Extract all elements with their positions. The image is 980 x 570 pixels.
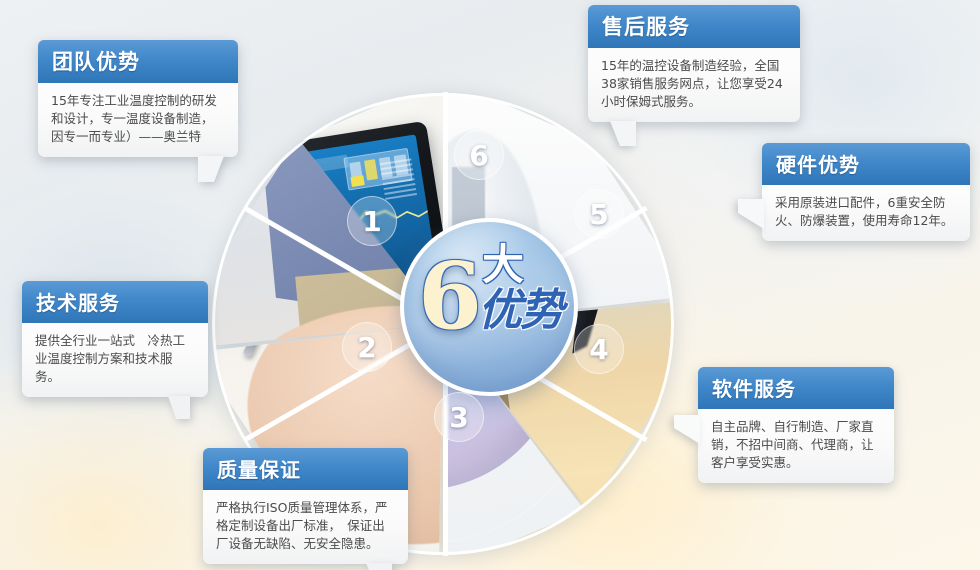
callout-tech-body: 提供全行业一站式 冷热工业温度控制方案和技术服务。	[22, 323, 208, 397]
callout-hardware-body: 采用原装进口配件，6重安全防火、防爆装置，使用寿命12年。	[762, 185, 970, 241]
callout-tail	[198, 156, 224, 182]
badge-2[interactable]: 2	[342, 322, 392, 372]
infographic-canvas: INTC 440.95	[0, 0, 980, 570]
badge-5[interactable]: 5	[574, 189, 624, 239]
center-number: 6	[418, 250, 482, 342]
callout-software-service[interactable]: 软件服务 自主品牌、自行制造、厂家直销，不招中间商、代理商，让客户享受实惠。	[698, 367, 894, 483]
callout-tail	[674, 415, 700, 444]
center-circle: 6 大 优势	[400, 218, 578, 396]
callout-technical-service[interactable]: 技术服务 提供全行业一站式 冷热工业温度控制方案和技术服务。	[22, 281, 208, 397]
center-suffix: 优势	[478, 288, 562, 334]
badge-4[interactable]: 4	[574, 324, 624, 374]
callout-team-advantage[interactable]: 团队优势 15年专注工业温度控制的研发和设计，专一温度设备制造，因专一而专业）—…	[38, 40, 238, 157]
callout-tail	[738, 199, 764, 229]
callout-tail	[610, 121, 636, 146]
center-big-char: 大	[482, 244, 524, 286]
callout-hardware-advantage[interactable]: 硬件优势 采用原装进口配件，6重安全防火、防爆装置，使用寿命12年。	[762, 143, 970, 241]
callout-quality-assurance[interactable]: 质量保证 严格执行ISO质量管理体系，严格定制设备出厂标准， 保证出厂设备无缺陷…	[203, 448, 408, 564]
callout-tail	[168, 396, 190, 419]
callout-team-title: 团队优势	[38, 40, 238, 83]
badge-1[interactable]: 1	[347, 196, 397, 246]
callout-tail	[366, 563, 392, 570]
callout-quality-title: 质量保证	[203, 448, 408, 490]
callout-after-sales-body: 15年的温控设备制造经验，全国38家销售服务网点，让您享受24小时保姆式服务。	[588, 48, 800, 122]
callout-software-title: 软件服务	[698, 367, 894, 409]
badge-3[interactable]: 3	[434, 392, 484, 442]
callout-after-sales[interactable]: 售后服务 15年的温控设备制造经验，全国38家销售服务网点，让您享受24小时保姆…	[588, 5, 800, 122]
callout-team-body: 15年专注工业温度控制的研发和设计，专一温度设备制造，因专一而专业）——奥兰特	[38, 83, 238, 157]
callout-hardware-title: 硬件优势	[762, 143, 970, 185]
callout-quality-body: 严格执行ISO质量管理体系，严格定制设备出厂标准， 保证出厂设备无缺陷、无安全隐…	[203, 490, 408, 564]
callout-tech-title: 技术服务	[22, 281, 208, 323]
screen-marker-high	[350, 175, 364, 187]
callout-software-body: 自主品牌、自行制造、厂家直销，不招中间商、代理商，让客户享受实惠。	[698, 409, 894, 483]
callout-after-sales-title: 售后服务	[588, 5, 800, 48]
red-trend-line	[242, 93, 362, 129]
badge-6[interactable]: 6	[454, 130, 504, 180]
